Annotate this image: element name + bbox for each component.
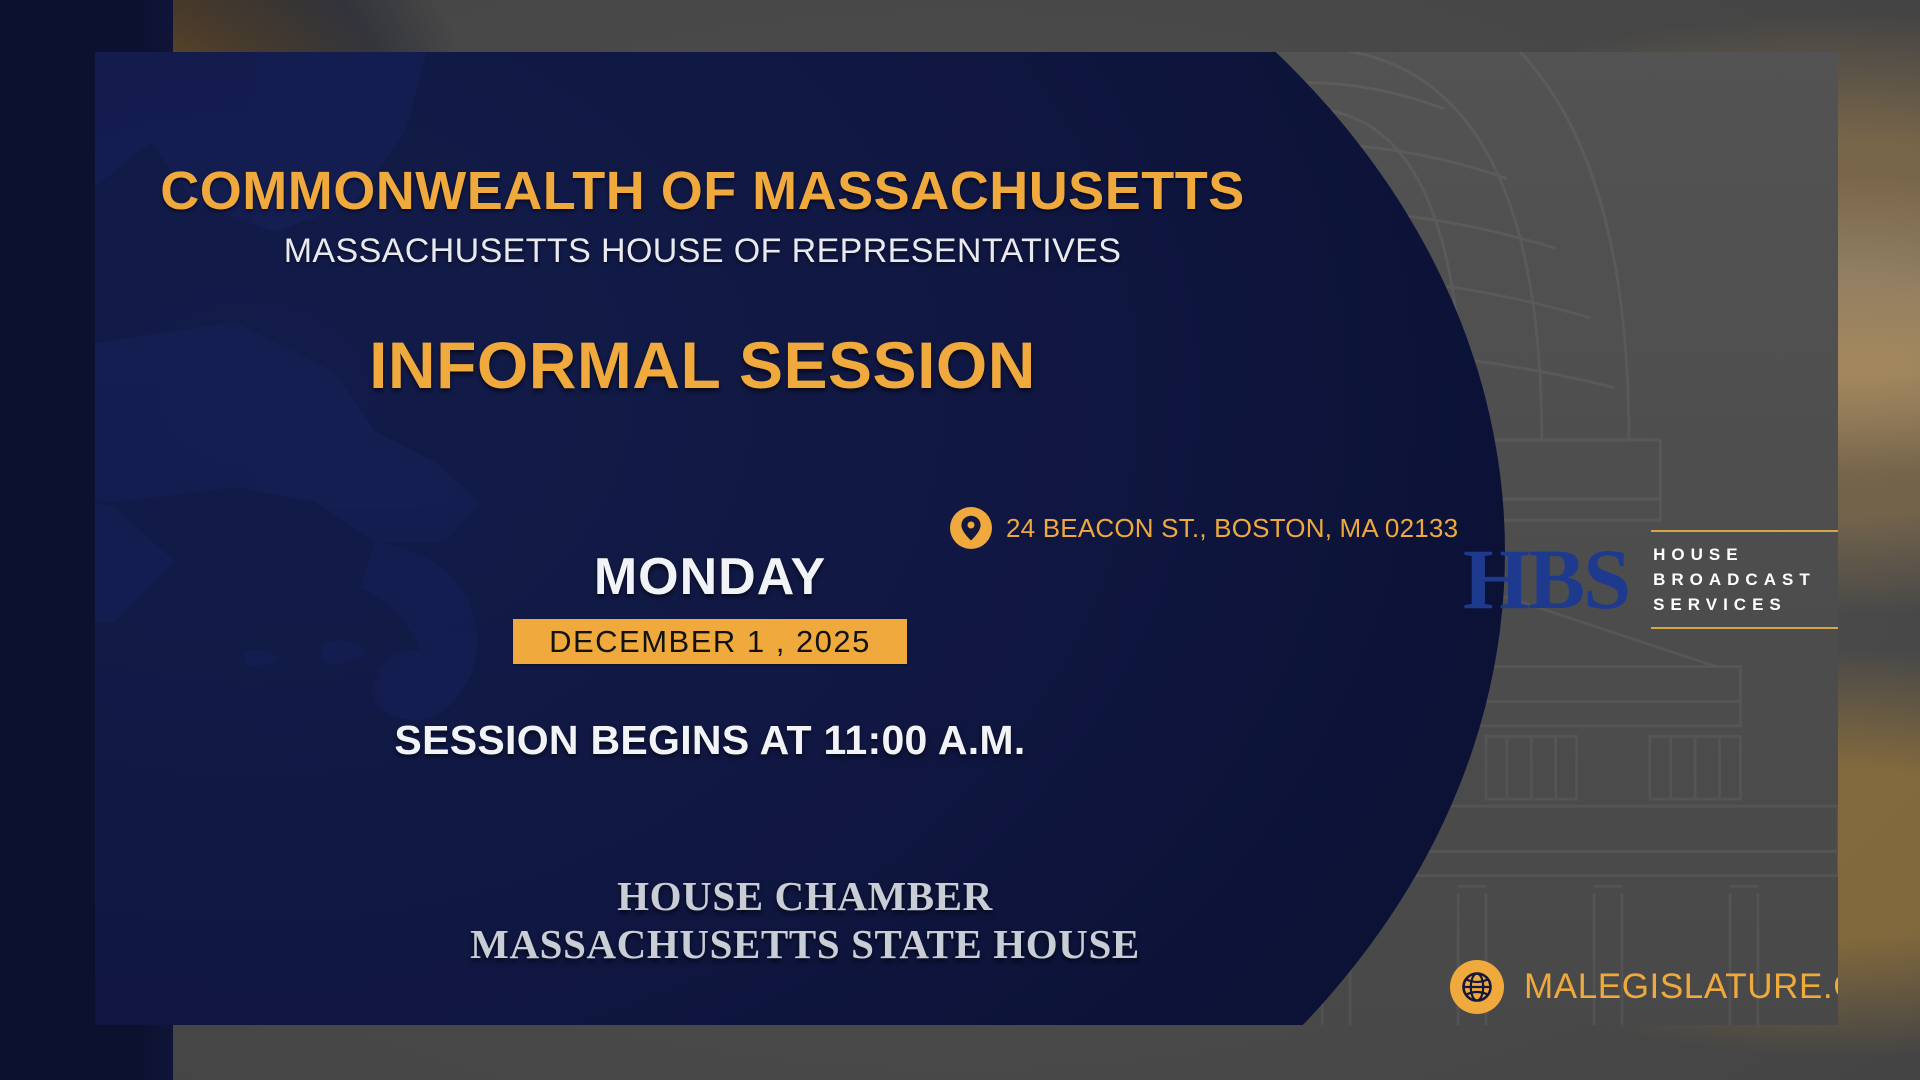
hbs-logo: HBS HOUSE BROADCAST SERVICES bbox=[1463, 530, 1838, 629]
address-text: 24 BEACON ST., BOSTON, MA 02133 bbox=[1006, 513, 1458, 544]
venue-line-1: HOUSE CHAMBER bbox=[255, 872, 1355, 920]
hbs-rule-bottom bbox=[1651, 627, 1838, 629]
slate-content: COMMONWEALTH OF MASSACHUSETTS MASSACHUSE… bbox=[95, 52, 1838, 1025]
date-text: DECEMBER 1 , 2025 bbox=[549, 624, 871, 660]
session-start-time: SESSION BEGINS AT 11:00 A.M. bbox=[295, 717, 1125, 764]
hbs-rule-top bbox=[1651, 530, 1838, 532]
venue-line-2: MASSACHUSETTS STATE HOUSE bbox=[255, 920, 1355, 968]
date-badge: DECEMBER 1 , 2025 bbox=[513, 619, 907, 664]
hbs-monogram: HBS bbox=[1463, 539, 1629, 621]
hbs-word-services: SERVICES bbox=[1653, 594, 1838, 616]
website-url[interactable]: MALEGISLATURE.GOV bbox=[1524, 967, 1838, 1007]
hbs-word-broadcast: BROADCAST bbox=[1653, 569, 1838, 591]
website-row[interactable]: MALEGISLATURE.GOV bbox=[1450, 960, 1838, 1014]
venue-block: HOUSE CHAMBER MASSACHUSETTS STATE HOUSE bbox=[255, 872, 1355, 969]
globe-icon bbox=[1450, 960, 1504, 1014]
session-slate-card: COMMONWEALTH OF MASSACHUSETTS MASSACHUSE… bbox=[95, 52, 1838, 1025]
chamber-subtitle: MASSACHUSETTS HOUSE OF REPRESENTATIVES bbox=[95, 232, 1310, 271]
page-title: COMMONWEALTH OF MASSACHUSETTS bbox=[95, 160, 1310, 222]
hbs-wordmark: HOUSE BROADCAST SERVICES bbox=[1651, 530, 1838, 629]
session-type-title: INFORMAL SESSION bbox=[95, 327, 1310, 403]
day-of-week: MONDAY bbox=[395, 547, 1025, 607]
address-row: 24 BEACON ST., BOSTON, MA 02133 bbox=[950, 507, 1458, 549]
hbs-word-house: HOUSE bbox=[1653, 544, 1838, 566]
location-pin-icon bbox=[950, 507, 992, 549]
